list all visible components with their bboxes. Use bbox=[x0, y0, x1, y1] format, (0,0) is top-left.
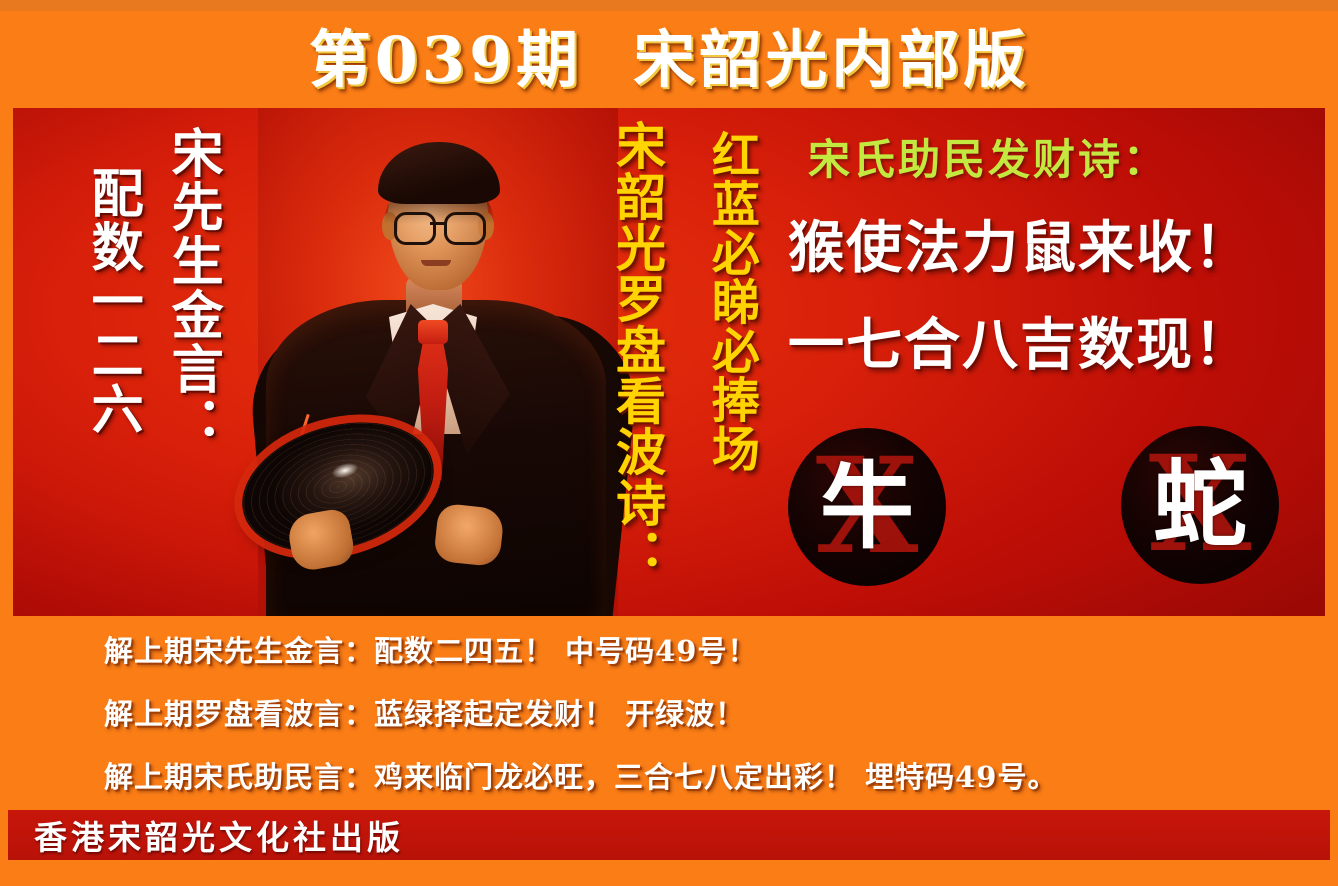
publisher-name: 香港宋韶光文化社出版 bbox=[8, 811, 404, 859]
vertical-text-red-blue-must-watch: 红蓝必睇必捧场 bbox=[705, 130, 755, 473]
poem-heading: 宋氏助民发财诗： bbox=[808, 126, 1308, 187]
zodiac-character-snake: 蛇 bbox=[1121, 426, 1279, 584]
zodiac-badge-ox: X 牛 bbox=[788, 428, 946, 586]
zodiac-character-ox: 牛 bbox=[788, 428, 946, 586]
explanation-line-1: 解上期宋先生金言：配数二四五！ 中号码49号！ bbox=[0, 628, 1338, 670]
portrait-glasses-left-lens bbox=[394, 212, 436, 245]
portrait-mouth bbox=[421, 260, 451, 266]
vertical-text-pair-numbers: 配数一二六 bbox=[85, 166, 139, 436]
portrait-glasses-bridge bbox=[430, 222, 446, 225]
publisher-footer-band: 香港宋韶光文化社出版 bbox=[8, 810, 1330, 860]
poem-line-1: 猴使法力鼠来收！ bbox=[788, 203, 1308, 284]
poster-root: 第039期 宋韶光内部版 bbox=[0, 0, 1338, 886]
vertical-text-luopan-wave-poem-title: 宋韶光罗盘看波诗： bbox=[611, 120, 663, 579]
portrait-glasses-right-lens bbox=[444, 212, 486, 245]
portrait-photo bbox=[258, 108, 618, 616]
top-orange-strip bbox=[0, 0, 1338, 11]
portrait-tie-knot bbox=[418, 320, 448, 344]
explanation-line-2: 解上期罗盘看波言：蓝绿择起定发财！ 开绿波！ bbox=[0, 691, 1338, 733]
main-red-panel: 宋先生金言： 配数一二六 宋韶光罗盘看波诗： 红蓝必睇必捧场 宋氏助民发财诗： … bbox=[13, 108, 1325, 616]
poem-line-2: 一七合八吉数现！ bbox=[788, 300, 1308, 381]
explanation-line-3: 解上期宋氏助民言：鸡来临门龙必旺，三合七八定出彩！ 埋特码49号。 bbox=[0, 754, 1338, 796]
poster-header: 第039期 宋韶光内部版 bbox=[0, 11, 1338, 108]
zodiac-badge-snake: X 蛇 bbox=[1121, 426, 1279, 584]
page-title: 第039期 宋韶光内部版 bbox=[309, 29, 1030, 91]
portrait-hand-right bbox=[433, 503, 505, 568]
vertical-text-mr-song-golden-words: 宋先生金言： bbox=[165, 126, 219, 450]
fortune-poem-block: 宋氏助民发财诗： 猴使法力鼠来收！ 一七合八吉数现！ bbox=[788, 126, 1308, 381]
previous-issue-explanations: 解上期宋先生金言：配数二四五！ 中号码49号！ 解上期罗盘看波言：蓝绿择起定发财… bbox=[0, 628, 1338, 817]
